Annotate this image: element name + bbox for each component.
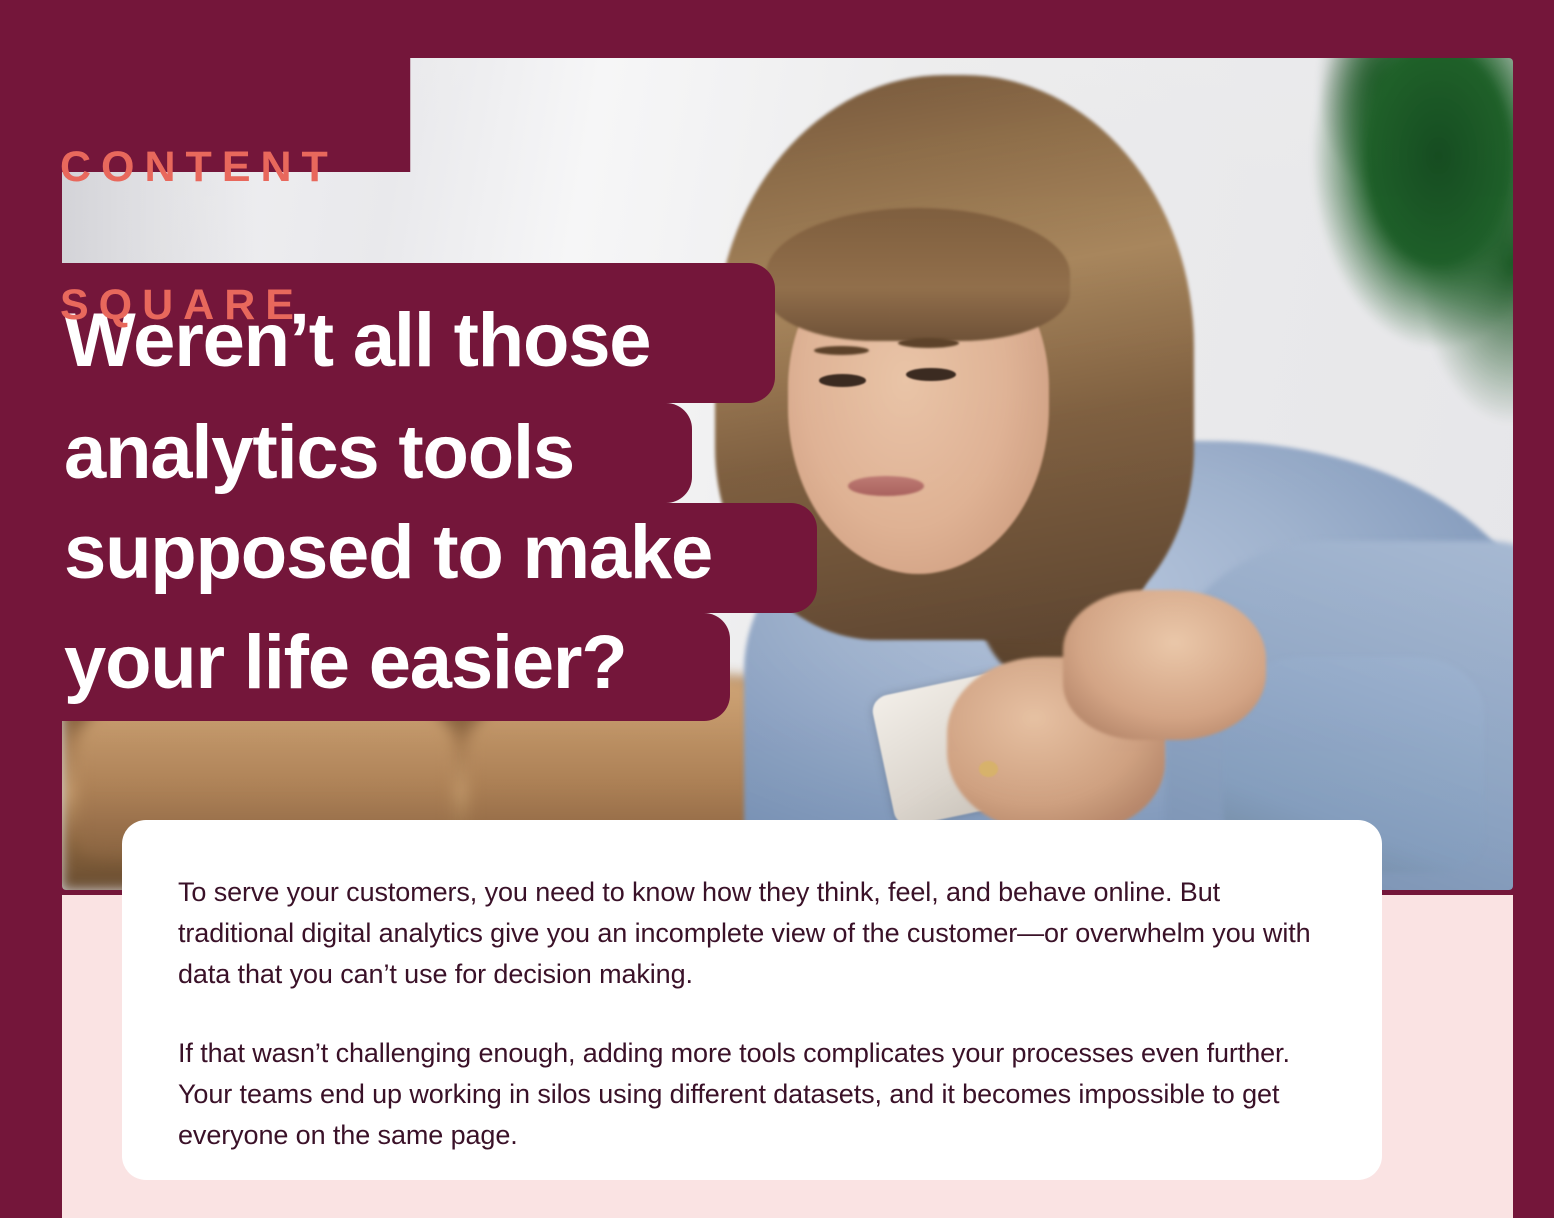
headline-line-4: your life easier? (62, 613, 730, 721)
body-paragraph-1: To serve your customers, you need to kno… (178, 872, 1318, 995)
headline-line-3: supposed to make (62, 503, 817, 613)
logo-line-content: CONTENT (60, 144, 338, 190)
photo-gold-necklace (867, 520, 998, 538)
logo-line-square: SQUARE (60, 282, 338, 328)
photo-eye-right (906, 368, 955, 381)
photo-eyebrow-right (898, 338, 959, 348)
photo-hand-holding-phone (947, 657, 1165, 832)
smartphone-icon (870, 668, 1040, 828)
photo-hair-right (962, 125, 1165, 674)
photo-turtleneck (867, 474, 1012, 574)
photo-ring (979, 761, 998, 777)
body-text-card: To serve your customers, you need to kno… (122, 820, 1382, 1180)
marketing-page: CONTENT SQUARE Weren’t all those analyti… (0, 0, 1554, 1218)
body-paragraph-2: If that wasn’t challenging enough, addin… (178, 1033, 1318, 1156)
photo-hand-tapping (1063, 590, 1266, 740)
headline-line-4-text: your life easier? (62, 613, 627, 713)
contentsquare-logo[interactable]: CONTENT SQUARE (60, 52, 338, 420)
headline-line-3-text: supposed to make (62, 503, 712, 603)
plant-icon (1208, 58, 1513, 424)
